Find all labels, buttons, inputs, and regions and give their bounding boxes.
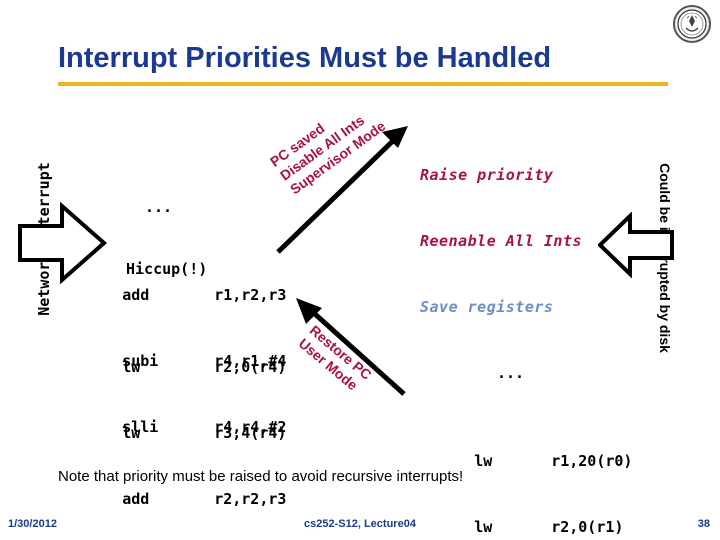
code-mnemonic: lw [122,356,214,378]
slide-note: Note that priority must be raised to avo… [58,468,463,485]
title-underline [58,82,668,86]
code-ellipsis: ... [420,362,632,384]
code-mnemonic: lw [122,422,214,444]
code-mnemonic: lw [474,450,551,472]
code-line: lwr2,0(r1) [420,494,632,516]
footer-course: cs252-S12, Lecture04 [0,518,720,530]
code-ellipsis: ... [68,196,286,218]
code-operands: r2,r2,r3 [214,488,286,510]
code-line: lwr2,0(r4) [68,334,286,356]
code-line: lwr3,4(r4) [68,400,286,422]
code-mnemonic: add [122,488,214,510]
code-operands: r2,0(r4) [214,356,286,378]
code-line: sw8(r4),r2 [68,532,286,540]
footer-page-number: 38 [698,518,710,530]
university-seal-icon [672,4,712,44]
page-title: Interrupt Priorities Must be Handled [58,42,551,75]
code-operands: r3,4(r4) [214,422,286,444]
handler-state-line: Save registers [420,296,632,318]
code-line: lwr1,20(r0) [420,428,632,450]
hiccup-label: Hiccup(!) [126,258,207,280]
handler-state-line: Raise priority [420,164,632,186]
code-operands: r1,20(r0) [551,450,632,472]
slide-canvas: Interrupt Priorities Must be Handled Net… [0,0,720,540]
handler-state-line: Reenable All Ints [420,230,632,252]
user-code-after-block: lwr2,0(r4) lwr3,4(r4) addr2,r2,r3 sw8(r4… [68,290,286,540]
